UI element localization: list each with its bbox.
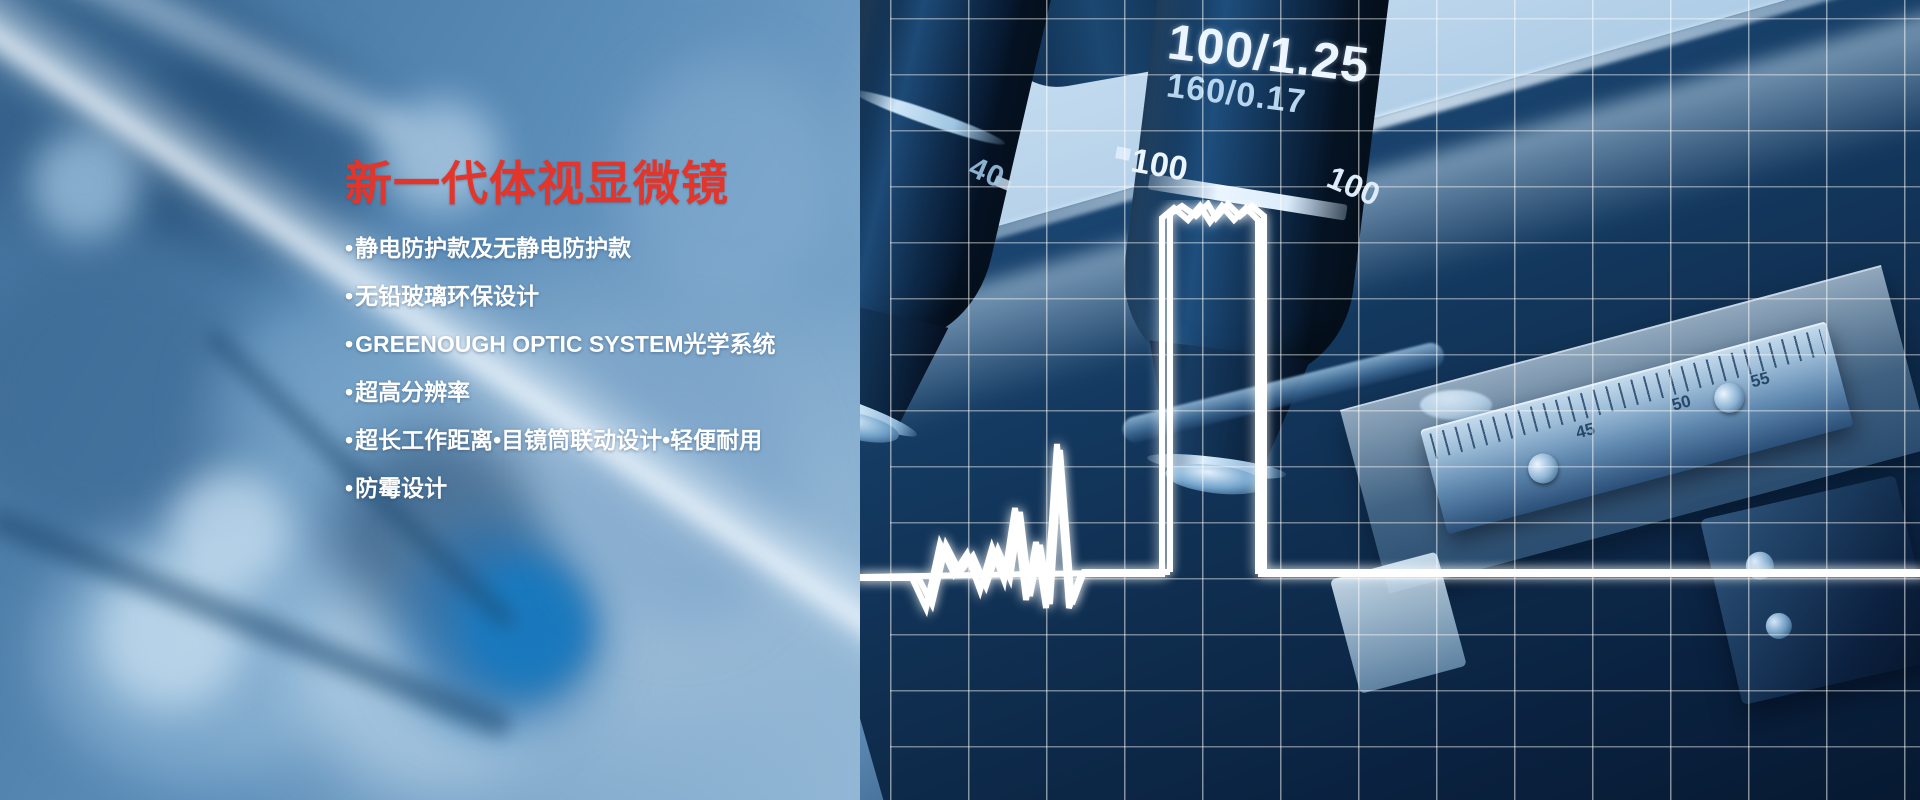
- bullet-marker: •: [345, 379, 353, 405]
- clip-bolt: [1743, 549, 1777, 583]
- bullet-marker: •: [345, 427, 353, 453]
- bokeh-blob: [460, 560, 590, 690]
- scale-mark-55: 55: [1748, 368, 1771, 392]
- bullet-marker: •: [345, 475, 353, 501]
- clip-bolt: [1763, 610, 1794, 641]
- bullet-marker: •: [345, 283, 353, 309]
- banner-copy: 新一代体视显微镜 •静电防护款及无静电防护款 •无铅玻璃环保设计 •GREENO…: [345, 158, 865, 525]
- scale-screw: [1711, 380, 1748, 417]
- hero-banner: 40 100/1.25 160/0.17 100 100 POLIG: [0, 0, 1920, 800]
- list-item-label: 超高分辨率: [355, 379, 470, 405]
- list-item-label: 无铅玻璃环保设计: [355, 283, 539, 309]
- feature-list: •静电防护款及无静电防护款 •无铅玻璃环保设计 •GREENOUGH OPTIC…: [345, 237, 865, 500]
- list-item-label: GREENOUGH OPTIC SYSTEM光学系统: [355, 331, 775, 357]
- bullet-marker: •: [345, 235, 353, 261]
- list-item: •GREENOUGH OPTIC SYSTEM光学系统: [345, 333, 865, 356]
- list-item: •超高分辨率: [345, 381, 865, 404]
- scale-mark-45: 45: [1574, 419, 1597, 443]
- lens-tick-mark: [1115, 146, 1131, 160]
- list-item-label: 防霉设计: [355, 475, 447, 501]
- list-item: •静电防护款及无静电防护款: [345, 237, 865, 260]
- scale-screw: [1525, 450, 1562, 487]
- list-item-label: 静电防护款及无静电防护款: [355, 235, 631, 261]
- list-item: •超长工作距离•目镜筒联动设计•轻便耐用: [345, 429, 865, 452]
- list-item: •无铅玻璃环保设计: [345, 285, 865, 308]
- bullet-marker: •: [345, 331, 353, 357]
- scale-mark-50: 50: [1670, 391, 1693, 415]
- page-title: 新一代体视显微镜: [345, 158, 865, 211]
- list-item-label: 超长工作距离•目镜筒联动设计•轻便耐用: [355, 427, 762, 453]
- microscope-photo: 40 100/1.25 160/0.17 100 100 POLIG: [860, 0, 1920, 800]
- list-item: •防霉设计: [345, 477, 865, 500]
